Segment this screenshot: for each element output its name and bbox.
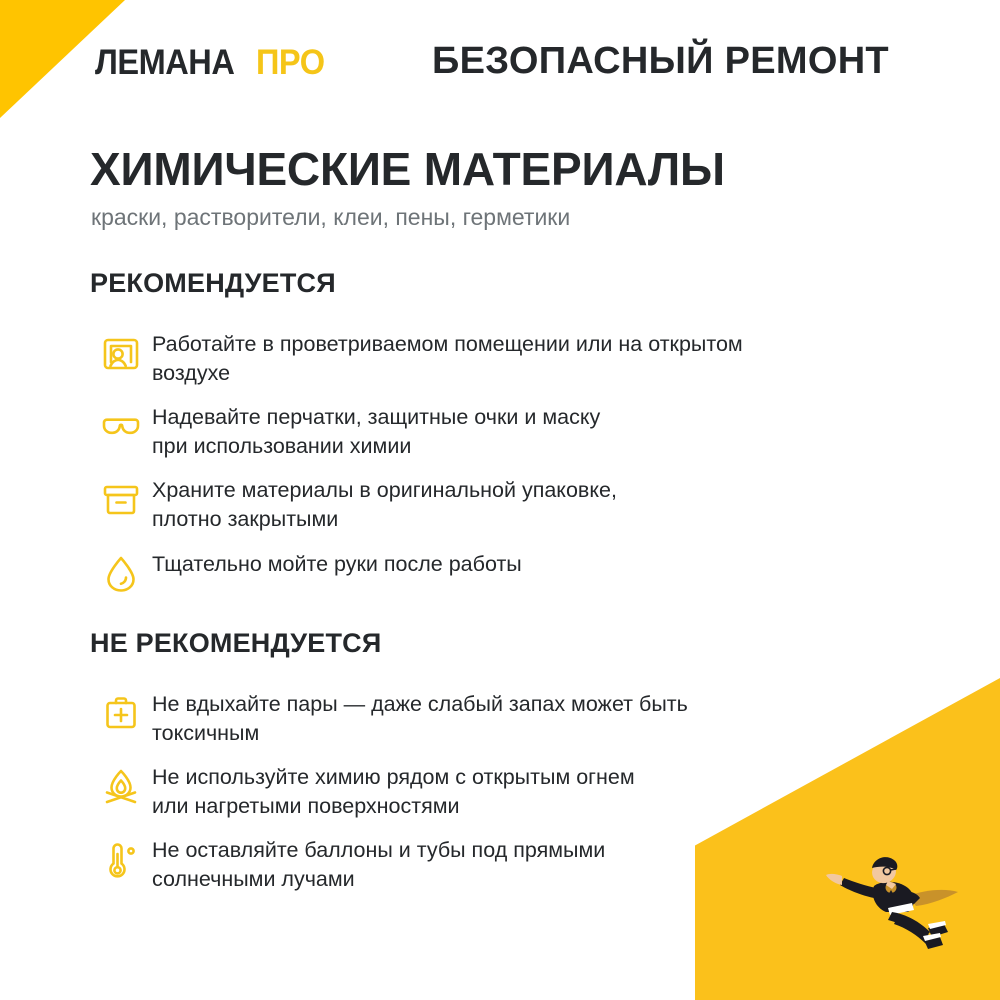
campfire-icon	[90, 756, 152, 818]
section-heading-not-recommended: НЕ РЕКОМЕНДУЕТСЯ	[90, 630, 920, 657]
safety-goggles-icon	[90, 396, 152, 458]
list-item: Не вдыхайте пары — даже слабый запах мож…	[90, 683, 920, 747]
page-title: ХИМИЧЕСКИЕ МАТЕРИАЛЫ	[90, 145, 725, 193]
list-item: Не оставляйте баллоны и тубы под прямыми…	[90, 829, 920, 893]
list-item-text: Не вдыхайте пары — даже слабый запах мож…	[152, 683, 920, 747]
section-heading-recommended: РЕКОМЕНДУЕТСЯ	[90, 270, 920, 297]
list-item-text: Не оставляйте баллоны и тубы под прямыми…	[152, 829, 920, 893]
not-recommended-item-list: Не вдыхайте пары — даже слабый запах мож…	[90, 683, 920, 894]
recommended-item-list: Работайте в проветриваемом помещении или…	[90, 323, 920, 605]
page-subtitle: краски, растворители, клеи, пены, гермет…	[91, 204, 570, 232]
section-recommended: РЕКОМЕНДУЕТСЯ Работайте в проветриваемом…	[90, 270, 920, 614]
brand-name-lemana: ЛЕМАНА	[95, 45, 234, 80]
thermometer-icon	[90, 829, 152, 891]
brand-logo: ЛЕМАНА ПРО	[95, 45, 330, 80]
list-item-text: Не используйте химию рядом с открытым ог…	[152, 756, 920, 820]
list-item: Тщательно мойте руки после работы	[90, 543, 920, 605]
brand-name-pro: ПРО	[256, 45, 325, 80]
header-title: БЕЗОПАСНЫЙ РЕМОНТ	[432, 42, 889, 80]
list-item-text: Надевайте перчатки, защитные очки и маск…	[152, 396, 920, 460]
list-item: Надевайте перчатки, защитные очки и маск…	[90, 396, 920, 460]
section-not-recommended: НЕ РЕКОМЕНДУЕТСЯ Не вдыхайте пары — даже…	[90, 630, 920, 903]
list-item-text: Храните материалы в оригинальной упаковк…	[152, 469, 920, 533]
ventilated-room-icon	[90, 323, 152, 385]
water-drop-icon	[90, 543, 152, 605]
list-item-text: Тщательно мойте руки после работы	[152, 543, 920, 579]
list-item-text: Работайте в проветриваемом помещении или…	[152, 323, 920, 387]
storage-box-icon	[90, 469, 152, 531]
flying-superhero-mascot	[812, 840, 972, 958]
poster-canvas: ЛЕМАНА ПРО БЕЗОПАСНЫЙ РЕМОНТ ХИМИЧЕСКИЕ …	[0, 0, 1000, 1000]
list-item: Не используйте химию рядом с открытым ог…	[90, 756, 920, 820]
list-item: Храните материалы в оригинальной упаковк…	[90, 469, 920, 533]
first-aid-kit-icon	[90, 683, 152, 745]
list-item: Работайте в проветриваемом помещении или…	[90, 323, 920, 387]
header-bar: ЛЕМАНА ПРО БЕЗОПАСНЫЙ РЕМОНТ	[0, 0, 1000, 118]
